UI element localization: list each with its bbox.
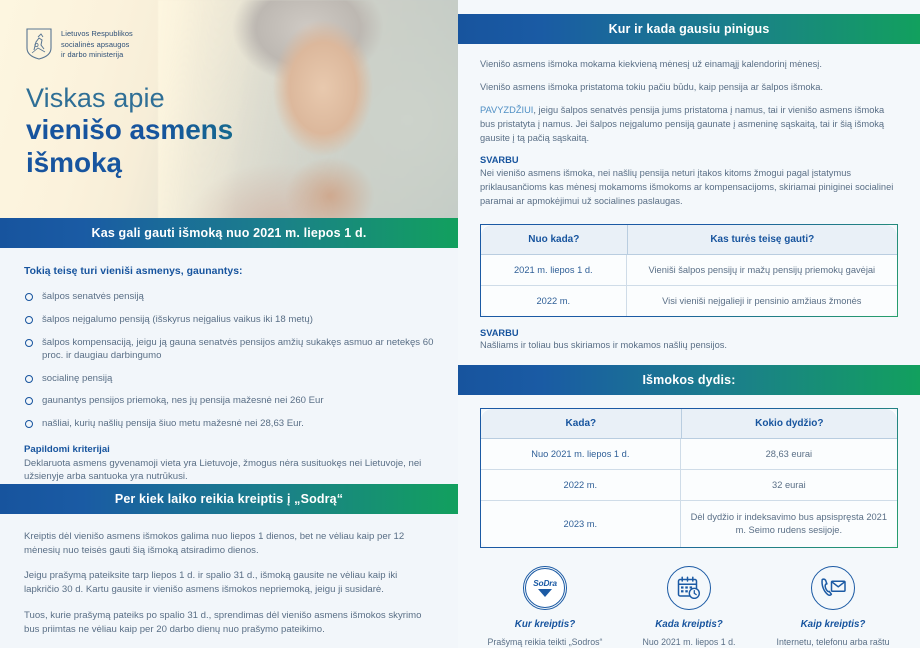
table-cell: 2023 m. bbox=[481, 501, 681, 547]
list-item: šalpos neįgalumo pensiją (išskyrus neįga… bbox=[24, 313, 434, 327]
list-item: šalpos kompensaciją, jeigu ją gauna sena… bbox=[24, 336, 434, 363]
amount-table-wrap: Kada? Kokio dydžio? Nuo 2021 m. liepos 1… bbox=[458, 408, 920, 548]
table-col-header: Kokio dydžio? bbox=[681, 409, 897, 439]
eligibility-table: Nuo kada? Kas turės teisę gauti? 2021 m.… bbox=[480, 224, 898, 317]
table-row: 2023 m. Dėl dydžio ir indeksavimo bus ap… bbox=[481, 501, 897, 547]
phone-envelope-icon bbox=[819, 576, 847, 600]
left-section2-body: Kreiptis dėl vienišo asmens išmokos gali… bbox=[0, 514, 458, 648]
sodra-badge: SoDra bbox=[525, 568, 565, 608]
contact-how-title: Kaip kreiptis? bbox=[764, 619, 902, 630]
eligibility-list: šalpos senatvės pensiją šalpos neįgalumo… bbox=[24, 290, 434, 430]
list-item: socialinę pensiją bbox=[24, 372, 434, 386]
right-column: Kur ir kada gausiu pinigus Vienišo asmen… bbox=[458, 0, 920, 648]
contact-where: SoDra Kur kreiptis? Prašymą reikia teikt… bbox=[476, 566, 614, 648]
list-item: gaunantys pensijos priemoką, nes jų pens… bbox=[24, 394, 434, 408]
table-cell: Nuo 2021 m. liepos 1 d. bbox=[481, 439, 681, 470]
table-row: 2022 m. Visi vieniši neįgalieji ir pensi… bbox=[481, 286, 897, 316]
sodra-logo-icon: SoDra bbox=[523, 566, 567, 610]
deadline-paragraph-1: Kreiptis dėl vienišo asmens išmokos gali… bbox=[24, 530, 434, 558]
table-header-row: Nuo kada? Kas turės teisę gauti? bbox=[481, 225, 897, 255]
ministry-logo-text: Lietuvos Respublikos socialinės apsaugos… bbox=[61, 28, 133, 61]
right-section1-body: Vienišo asmens išmoka mokama kiekvieną m… bbox=[458, 44, 920, 218]
calendar-clock-icon bbox=[676, 575, 702, 601]
title-line-1: Viskas apie bbox=[26, 83, 458, 113]
table-cell: Visi vieniši neįgalieji ir pensinio amži… bbox=[627, 286, 897, 316]
contact-where-desc: Prašymą reikia teikti „Sodros“ teritorin… bbox=[476, 636, 614, 648]
right-section1-banner: Kur ir kada gausiu pinigus bbox=[458, 14, 920, 44]
contact-when-desc: Nuo 2021 m. liepos 1 d. bbox=[620, 636, 758, 648]
important-body-2: Našliams ir toliau bus skiriamos ir moka… bbox=[480, 339, 898, 352]
logo-line-3: ir darbo ministerija bbox=[61, 50, 133, 61]
logo-line-1: Lietuvos Respublikos bbox=[61, 29, 133, 40]
extra-criteria-body: Deklaruota asmens gyvenamoji vieta yra L… bbox=[24, 457, 434, 484]
widows-note: SVARBU Našliams ir toliau bus skiriamos … bbox=[458, 317, 920, 352]
table-row: Nuo 2021 m. liepos 1 d. 28,63 eurai bbox=[481, 439, 897, 470]
table-header-row: Kada? Kokio dydžio? bbox=[481, 409, 897, 439]
left-column: Lietuvos Respublikos socialinės apsaugos… bbox=[0, 0, 458, 648]
contact-when-title: Kada kreiptis? bbox=[620, 619, 758, 630]
list-item: našliai, kurių našlių pensija šiuo metu … bbox=[24, 417, 434, 431]
contact-how-desc: Internetu, telefonu arba raštu bbox=[764, 636, 902, 648]
title-line-2: vienišo asmens bbox=[26, 113, 458, 146]
eligibility-table-wrap: Nuo kada? Kas turės teisę gauti? 2021 m.… bbox=[458, 224, 920, 317]
contact-when: Kada kreiptis? Nuo 2021 m. liepos 1 d. bbox=[620, 566, 758, 648]
contact-how: Kaip kreiptis? Internetu, telefonu arba … bbox=[764, 566, 902, 648]
table-cell: 32 eurai bbox=[681, 470, 897, 501]
lithuania-coat-of-arms-icon bbox=[26, 28, 52, 60]
payment-paragraph-2: Vienišo asmens išmoka pristatoma tokiu p… bbox=[480, 81, 898, 95]
left-section1-body: Tokią teisę turi vieniši asmenys, gaunan… bbox=[0, 248, 458, 483]
deadline-paragraph-3: Tuos, kurie prašymą pateiks po spalio 31… bbox=[24, 609, 434, 637]
infographic-page: Lietuvos Respublikos socialinės apsaugos… bbox=[0, 0, 920, 648]
left-section2-banner: Per kiek laiko reikia kreiptis į „Sodrą“ bbox=[0, 484, 458, 514]
sodra-triangle-icon bbox=[538, 589, 552, 597]
table-cell: Vieniši šalpos pensijų ir mažų pensijų p… bbox=[627, 255, 897, 286]
contact-icons-row: SoDra Kur kreiptis? Prašymą reikia teikt… bbox=[458, 548, 920, 648]
deadline-paragraph-2: Jeigu prašymą pateiksite tarp liepos 1 d… bbox=[24, 569, 434, 597]
table-row: 2022 m. 32 eurai bbox=[481, 470, 897, 501]
payment-paragraph-1: Vienišo asmens išmoka mokama kiekvieną m… bbox=[480, 58, 898, 72]
calendar-clock-icon-wrap bbox=[667, 566, 711, 610]
ministry-logo: Lietuvos Respublikos socialinės apsaugos… bbox=[26, 28, 458, 61]
contact-where-title: Kur kreiptis? bbox=[476, 619, 614, 630]
payment-example-paragraph: PAVYZDŽIUI, jeigu šalpos senatvės pensij… bbox=[480, 104, 898, 146]
logo-line-2: socialinės apsaugos bbox=[61, 40, 133, 51]
table-cell: 2022 m. bbox=[481, 470, 681, 501]
right-section2-banner: Išmokos dydis: bbox=[458, 365, 920, 395]
table-col-header: Kas turės teisę gauti? bbox=[627, 225, 897, 255]
table-col-header: Nuo kada? bbox=[481, 225, 627, 255]
left-section1-banner: Kas gali gauti išmoką nuo 2021 m. liepos… bbox=[0, 218, 458, 248]
eligibility-lead: Tokią teisę turi vieniši asmenys, gaunan… bbox=[24, 266, 434, 277]
table-cell: 28,63 eurai bbox=[681, 439, 897, 470]
example-body: , jeigu šalpos senatvės pensija jums pri… bbox=[480, 105, 884, 143]
extra-criteria-heading: Papildomi kriterijai bbox=[24, 444, 434, 455]
example-label: PAVYZDŽIUI bbox=[480, 105, 533, 115]
table-row: 2021 m. liepos 1 d. Vieniši šalpos pensi… bbox=[481, 255, 897, 286]
table-cell: 2021 m. liepos 1 d. bbox=[481, 255, 627, 286]
title-line-3: išmoką bbox=[26, 146, 458, 179]
important-label-1: SVARBU bbox=[480, 155, 898, 165]
hero-banner: Lietuvos Respublikos socialinės apsaugos… bbox=[0, 0, 458, 218]
phone-envelope-icon-wrap bbox=[811, 566, 855, 610]
amount-table: Kada? Kokio dydžio? Nuo 2021 m. liepos 1… bbox=[480, 408, 898, 548]
list-item: šalpos senatvės pensiją bbox=[24, 290, 434, 304]
table-cell: Dėl dydžio ir indeksavimo bus apsispręst… bbox=[681, 501, 897, 547]
important-body-1: Nei vienišo asmens išmoka, nei našlių pe… bbox=[480, 167, 898, 209]
page-title: Viskas apie vienišo asmens išmoką bbox=[26, 83, 458, 179]
important-label-2: SVARBU bbox=[480, 328, 898, 338]
table-col-header: Kada? bbox=[481, 409, 681, 439]
sodra-wordmark: SoDra bbox=[533, 579, 557, 587]
table-cell: 2022 m. bbox=[481, 286, 627, 316]
